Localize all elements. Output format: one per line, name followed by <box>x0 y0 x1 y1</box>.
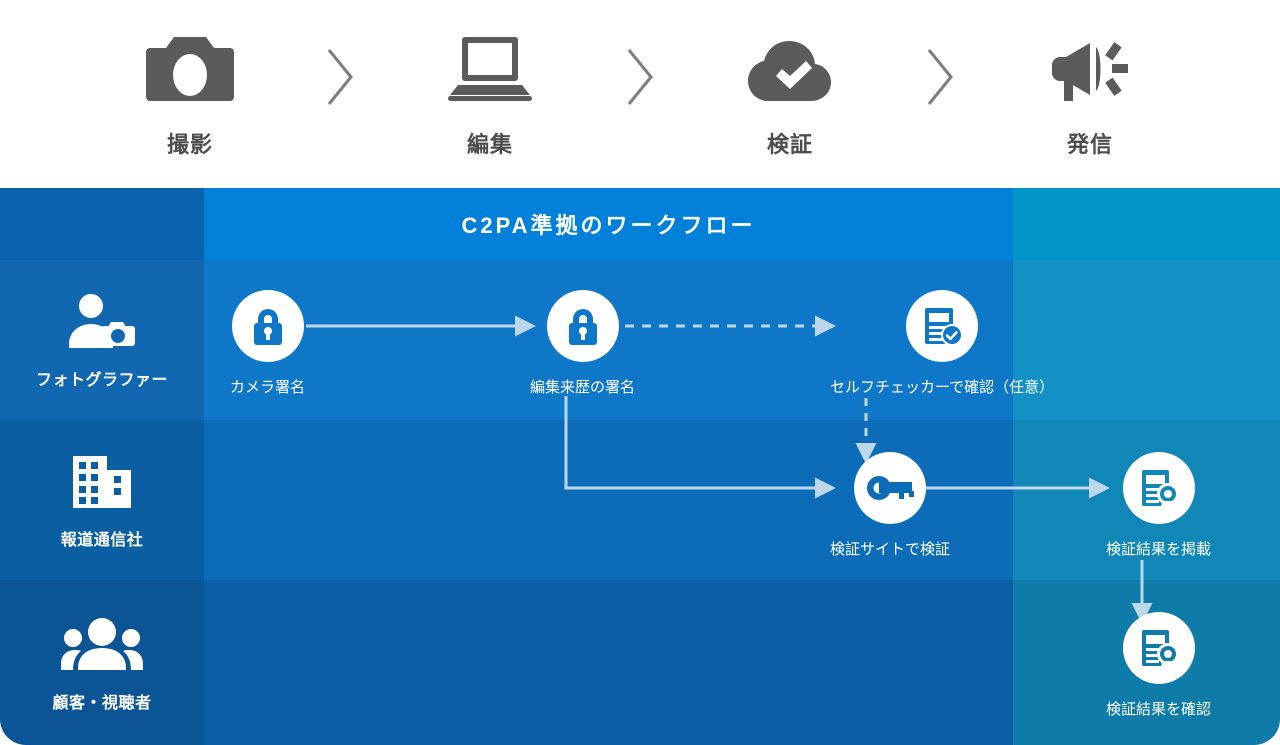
node-label: カメラ署名 <box>230 376 305 397</box>
node-publish-result[interactable]: 検証結果を掲載 <box>1106 452 1211 559</box>
photographer-icon <box>65 290 139 352</box>
people-group-icon <box>61 613 143 675</box>
certificate-doc-icon <box>1123 452 1195 524</box>
lane-photographer: フォトグラファー <box>0 260 204 420</box>
chevron-right-icon <box>880 39 1000 115</box>
matrix-title: C2PA準拠のワークフロー <box>204 188 1013 260</box>
laptop-icon <box>442 29 538 105</box>
stage-capture: 撮影 <box>100 29 280 159</box>
building-icon <box>69 450 135 512</box>
chevron-right-icon <box>580 39 700 115</box>
megaphone-icon <box>1042 29 1138 105</box>
lane-label: 顧客・視聴者 <box>52 689 151 713</box>
stage-label: 編集 <box>467 127 513 159</box>
node-self-checker[interactable]: セルフチェッカーで確認（任意） <box>830 290 1054 397</box>
workflow-matrix: C2PA準拠のワークフロー フォトグラファー <box>0 188 1280 745</box>
camera-icon <box>142 29 238 105</box>
lane-news-agency: 報道通信社 <box>0 420 204 580</box>
node-label: 編集来歴の署名 <box>530 376 635 397</box>
stage-verify: 検証 <box>700 29 880 159</box>
chevron-right-icon <box>280 39 400 115</box>
top-stage-flow: 撮影 編集 <box>0 0 1280 188</box>
header-cell-right <box>1013 188 1280 260</box>
certificate-doc-icon <box>1123 612 1195 684</box>
cloud-check-icon <box>742 29 838 105</box>
stage-label: 検証 <box>767 127 813 159</box>
stage-label: 撮影 <box>167 127 213 159</box>
key-icon <box>854 452 926 524</box>
lane-label: 報道通信社 <box>61 526 144 550</box>
infographic-root: 撮影 編集 <box>0 0 1280 745</box>
header-cell-left <box>0 188 204 260</box>
lane-audience: 顧客・視聴者 <box>0 580 204 745</box>
node-verify-site[interactable]: 検証サイトで検証 <box>830 452 950 559</box>
stage-publish: 発信 <box>1000 29 1180 159</box>
document-check-icon <box>906 290 978 362</box>
lock-icon <box>547 290 619 362</box>
node-label: 検証結果を確認 <box>1106 698 1211 719</box>
row3-cell-middle <box>204 580 1013 745</box>
lane-label: フォトグラファー <box>36 366 168 390</box>
node-camera-signature[interactable]: カメラ署名 <box>230 290 305 397</box>
stage-label: 発信 <box>1067 127 1113 159</box>
lock-icon <box>232 290 304 362</box>
node-label: 検証結果を掲載 <box>1106 538 1211 559</box>
node-label: セルフチェッカーで確認（任意） <box>830 376 1054 397</box>
node-label: 検証サイトで検証 <box>830 538 950 559</box>
node-confirm-result[interactable]: 検証結果を確認 <box>1106 612 1211 719</box>
stage-edit: 編集 <box>400 29 580 159</box>
node-edit-provenance[interactable]: 編集来歴の署名 <box>530 290 635 397</box>
